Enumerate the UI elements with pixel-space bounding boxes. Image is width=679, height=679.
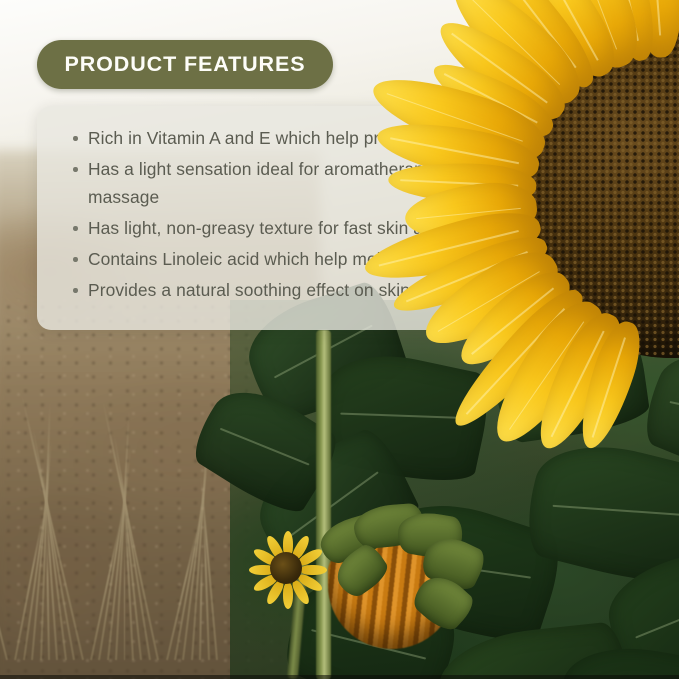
small-sunflower-bloom (243, 525, 329, 611)
bullet-icon (73, 167, 78, 172)
small-sunflower-seed-head (270, 552, 302, 584)
small-sunflower-petal (283, 583, 293, 609)
bullet-icon (73, 136, 78, 141)
feature-text: Provides a natural soothing effect on sk… (88, 280, 410, 300)
page-title: PRODUCT FEATURES (65, 52, 306, 77)
dry-weeds (0, 360, 230, 660)
bottom-edge-band (0, 675, 679, 679)
weed-stalk (199, 549, 202, 660)
bullet-icon (73, 257, 78, 262)
background-photo (0, 0, 679, 679)
bullet-icon (73, 226, 78, 231)
product-features-image: Rich in Vitamin A and E which help prote… (0, 0, 679, 679)
drooping-flower-head (320, 505, 490, 655)
weed-stalk (0, 553, 7, 660)
weed-stalk (200, 476, 218, 660)
bullet-icon (73, 288, 78, 293)
product-features-badge: PRODUCT FEATURES (37, 40, 333, 89)
weed-stalk (124, 542, 126, 660)
